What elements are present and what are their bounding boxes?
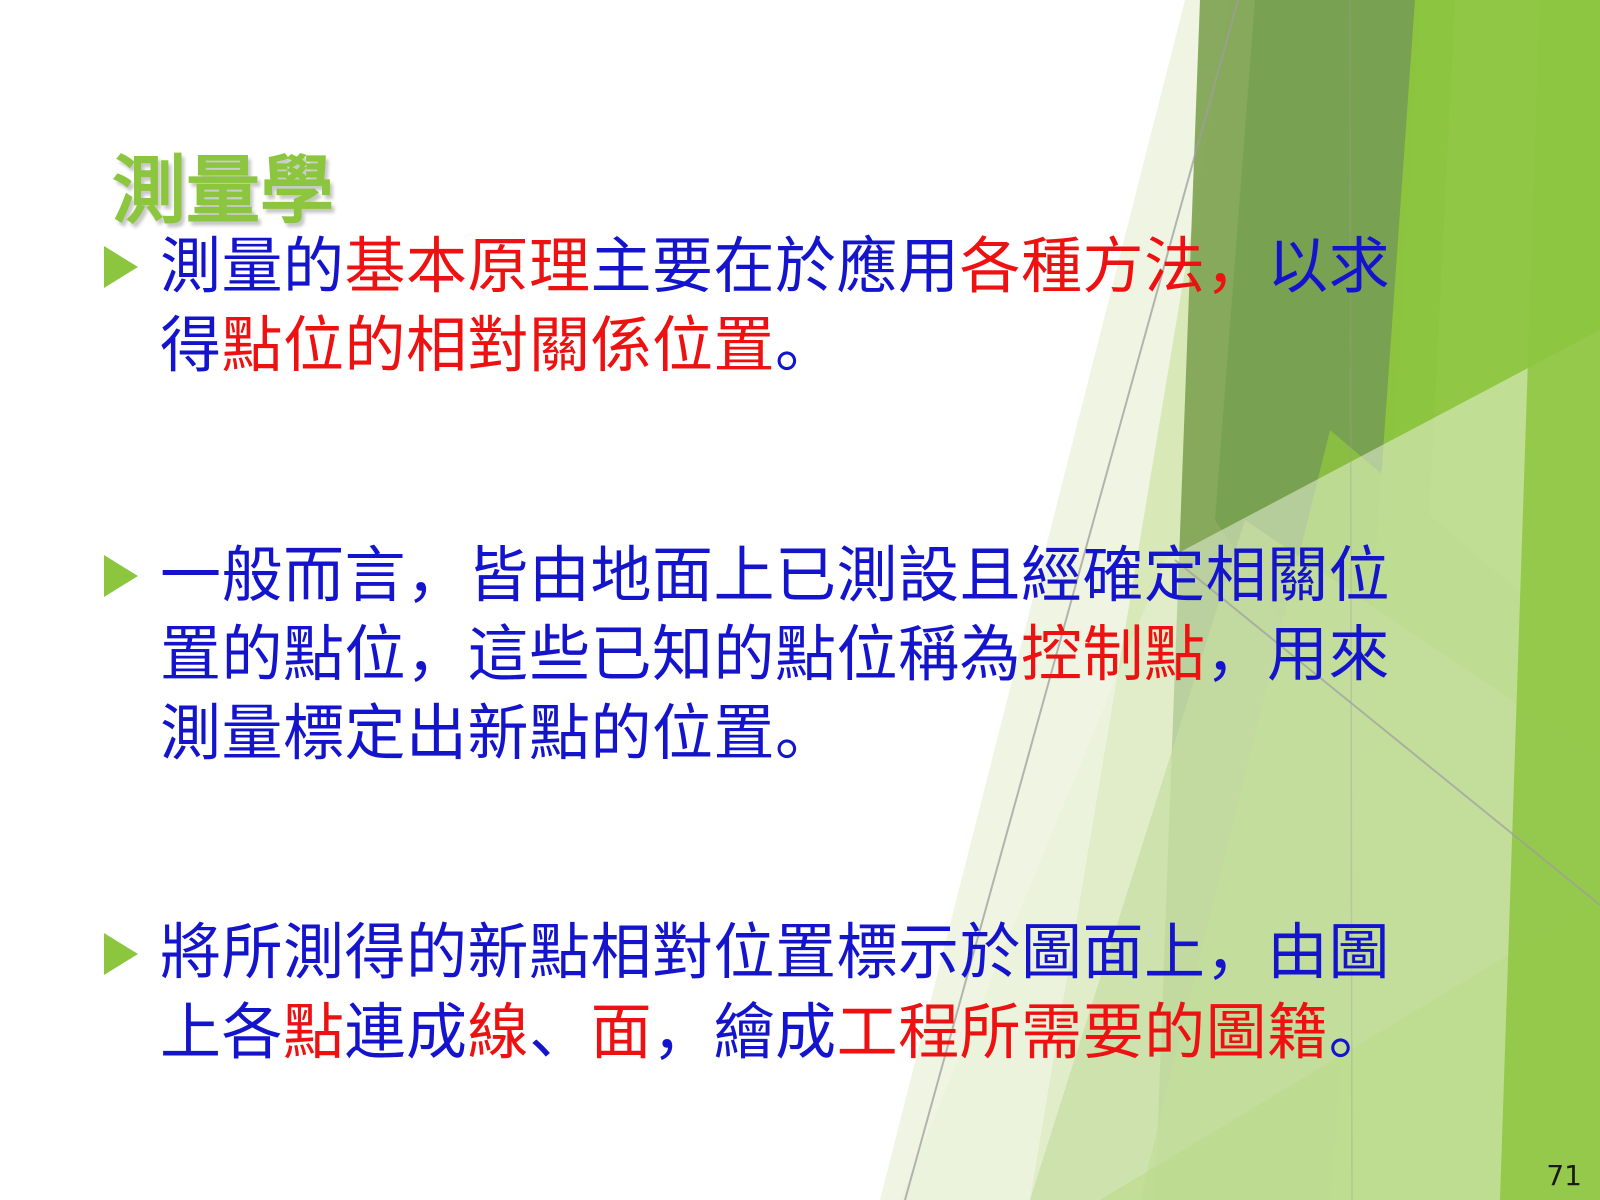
bullet-1-text: 測量的基本原理主要在於應用各種方法，以求得點位的相對關係位置。 [160,228,1436,387]
triangle-bullet-icon [104,555,138,597]
slide-canvas: 測量學 測量的基本原理主要在於應用各種方法，以求得點位的相對關係位置。 一般而言… [0,0,1600,1200]
bullet-item-2: 一般而言，皆由地面上已測設且經確定相關位置的點位，這些已知的點位稱為控制點，用來… [96,537,1436,775]
bullet-3-run-4: 線 [468,1000,530,1067]
bullet-1-run-4: 各種方法， [960,234,1268,301]
triangle-bullet-icon [104,246,138,288]
bullet-1-run-6: 點位的相對關係位置 [222,313,776,380]
bullet-3-run-9: 。 [1329,1000,1391,1067]
bullet-3-text: 將所測得的新點相對位置標示於圖面上，由圖上各點連成線、面，繪成工程所需要的圖籍。 [160,914,1436,1073]
bullet-1-run-7: 。 [775,313,837,380]
page-title: 測量學 [112,154,334,228]
bullet-3-run-8: 工程所需要的圖籍 [837,1000,1329,1067]
bullet-2-text: 一般而言，皆由地面上已測設且經確定相關位置的點位，這些已知的點位稱為控制點，用來… [160,537,1436,775]
triangle-bullet-icon [104,933,138,975]
bullet-3-run-7: ，繪成 [652,1000,837,1067]
bullet-list: 測量的基本原理主要在於應用各種方法，以求得點位的相對關係位置。 一般而言，皆由地… [96,228,1436,1073]
bullet-3-run-6: 面 [591,1000,653,1067]
bullet-3-run-5: 、 [529,1000,591,1067]
bullet-item-3: 將所測得的新點相對位置標示於圖面上，由圖上各點連成線、面，繪成工程所需要的圖籍。 [96,914,1436,1073]
bullet-spacer-2 [96,774,1436,914]
bullet-item-1: 測量的基本原理主要在於應用各種方法，以求得點位的相對關係位置。 [96,228,1436,387]
bullet-1-run-2: 基本原理 [345,234,591,301]
page-number: 71 [1546,1162,1582,1190]
bullet-3-run-2: 點 [283,1000,345,1067]
bullet-3-run-3: 連成 [345,1000,468,1067]
bullet-1-run-1: 測量的 [160,234,345,301]
bullet-spacer-1 [96,387,1436,537]
bullet-1-run-3: 主要在於應用 [591,234,960,301]
bullet-2-run-2: 控制點 [1021,622,1206,689]
